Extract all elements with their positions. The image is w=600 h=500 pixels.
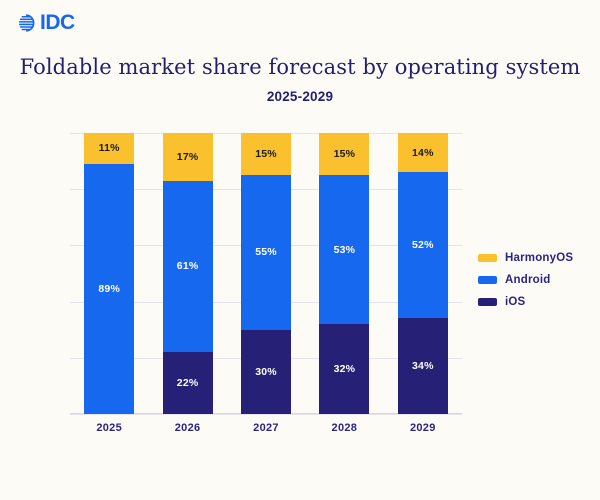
- bar-group[interactable]: 15%55%30%: [241, 133, 291, 414]
- bar-segment-harmonyos[interactable]: 14%: [398, 133, 448, 172]
- bar-value-label: 17%: [177, 151, 199, 163]
- bar-segment-android[interactable]: 53%: [319, 175, 369, 324]
- idc-globe-icon: [18, 13, 38, 33]
- bar-value-label: 11%: [99, 142, 120, 154]
- chart-title: Foldable market share forecast by operat…: [0, 55, 600, 79]
- x-axis-tick-label: 2027: [241, 422, 291, 434]
- bar-value-label: 14%: [412, 147, 434, 159]
- bar-stack: 17%61%22%: [163, 133, 213, 414]
- bar-segment-ios[interactable]: 30%: [241, 330, 291, 414]
- bar-group[interactable]: 17%61%22%: [163, 133, 213, 414]
- bar-segment-android[interactable]: 61%: [163, 181, 213, 352]
- bar-segment-ios[interactable]: 22%: [163, 352, 213, 414]
- legend-swatch: [478, 276, 497, 284]
- bar-segment-ios[interactable]: 32%: [319, 324, 369, 414]
- x-axis-tick-label: 2025: [84, 422, 134, 434]
- legend-label: iOS: [505, 296, 525, 308]
- legend-swatch: [478, 298, 497, 306]
- legend-item-ios[interactable]: iOS: [478, 291, 573, 313]
- bar-segment-harmonyos[interactable]: 15%: [241, 133, 291, 175]
- bar-value-label: 15%: [334, 148, 356, 160]
- legend-label: HarmonyOS: [505, 252, 573, 264]
- bar-value-label: 52%: [412, 239, 434, 251]
- legend-label: Android: [505, 274, 550, 286]
- bar-value-label: 30%: [255, 366, 277, 378]
- bar-value-label: 34%: [412, 360, 434, 372]
- bar-value-label: 61%: [177, 260, 199, 272]
- legend-item-android[interactable]: Android: [478, 269, 573, 291]
- bar-segment-harmonyos[interactable]: 11%: [84, 133, 134, 164]
- legend-swatch: [478, 254, 497, 262]
- idc-logo: IDC: [18, 12, 75, 33]
- chart-page: IDC Foldable market share forecast by op…: [0, 0, 600, 500]
- bar-stack: 14%52%34%: [398, 133, 448, 414]
- bar-segment-ios[interactable]: 34%: [398, 318, 448, 414]
- bar-value-label: 55%: [255, 246, 277, 258]
- gridline: [70, 414, 462, 415]
- x-axis-tick-label: 2026: [163, 422, 213, 434]
- bar-segment-android[interactable]: 89%: [84, 164, 134, 414]
- bar-group[interactable]: 15%53%32%: [319, 133, 369, 414]
- bar-segment-harmonyos[interactable]: 15%: [319, 133, 369, 175]
- bar-value-label: 53%: [334, 244, 356, 256]
- bar-group[interactable]: 14%52%34%: [398, 133, 448, 414]
- bar-segment-android[interactable]: 55%: [241, 175, 291, 330]
- bar-group[interactable]: 11%89%: [84, 133, 134, 414]
- bar-value-label: 89%: [98, 283, 120, 295]
- legend-item-harmonyos[interactable]: HarmonyOS: [478, 247, 573, 269]
- bar-segment-android[interactable]: 52%: [398, 172, 448, 318]
- bar-value-label: 22%: [177, 377, 199, 389]
- bar-segment-harmonyos[interactable]: 17%: [163, 133, 213, 181]
- bar-stack: 15%55%30%: [241, 133, 291, 414]
- chart-subtitle: 2025-2029: [0, 89, 600, 104]
- x-axis-tick-label: 2029: [398, 422, 448, 434]
- bar-value-label: 32%: [334, 363, 356, 375]
- chart-plot-area: 11%89%17%61%22%15%55%30%15%53%32%14%52%3…: [70, 133, 462, 414]
- bar-stack: 15%53%32%: [319, 133, 369, 414]
- chart-legend: HarmonyOSAndroidiOS: [478, 247, 573, 313]
- x-axis-tick-label: 2028: [319, 422, 369, 434]
- bar-value-label: 15%: [255, 148, 277, 160]
- bar-stack: 11%89%: [84, 133, 134, 414]
- idc-logo-text: IDC: [40, 12, 75, 33]
